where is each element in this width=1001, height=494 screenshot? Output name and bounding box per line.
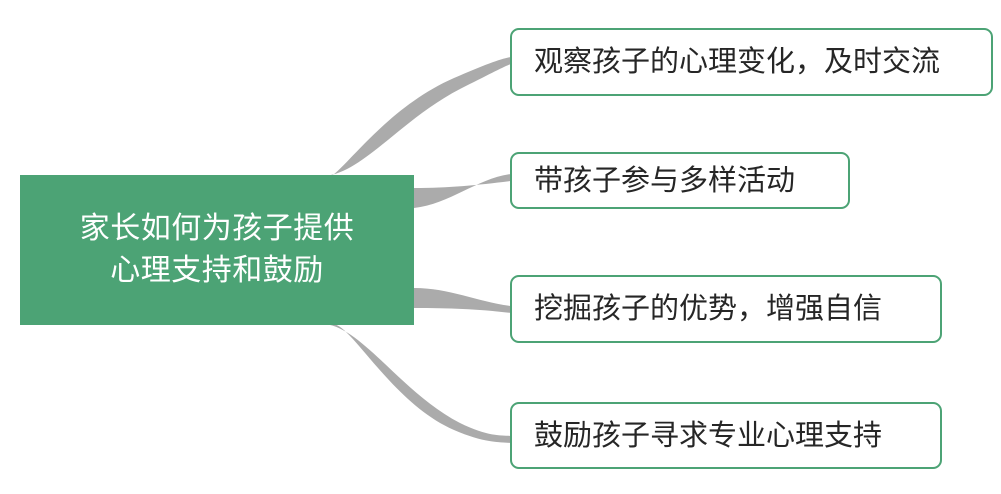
branch-node-discover-strengths[interactable]: 挖掘孩子的优势，增强自信: [510, 275, 942, 343]
branch-node-label: 观察孩子的心理变化，及时交流: [534, 45, 940, 79]
branch-node-diverse-activities[interactable]: 带孩子参与多样活动: [510, 152, 850, 209]
branch-node-label: 挖掘孩子的优势，增强自信: [534, 292, 882, 326]
branch-node-observe-child-psychology[interactable]: 观察孩子的心理变化，及时交流: [510, 28, 993, 96]
root-node[interactable]: 家长如何为孩子提供 心理支持和鼓励: [20, 175, 414, 325]
mindmap-canvas: 家长如何为孩子提供 心理支持和鼓励 观察孩子的心理变化，及时交流 带孩子参与多样…: [0, 0, 1001, 494]
connector-root-to-branch-4: [322, 324, 511, 443]
branch-node-professional-support[interactable]: 鼓励孩子寻求专业心理支持: [510, 402, 942, 469]
branch-node-label: 鼓励孩子寻求专业心理支持: [534, 419, 882, 453]
connector-root-to-branch-3: [414, 288, 511, 313]
root-node-label: 家长如何为孩子提供 心理支持和鼓励: [80, 208, 355, 292]
branch-node-label: 带孩子参与多样活动: [534, 164, 795, 198]
connector-root-to-branch-2: [414, 174, 511, 208]
connector-root-to-branch-1: [322, 57, 511, 176]
